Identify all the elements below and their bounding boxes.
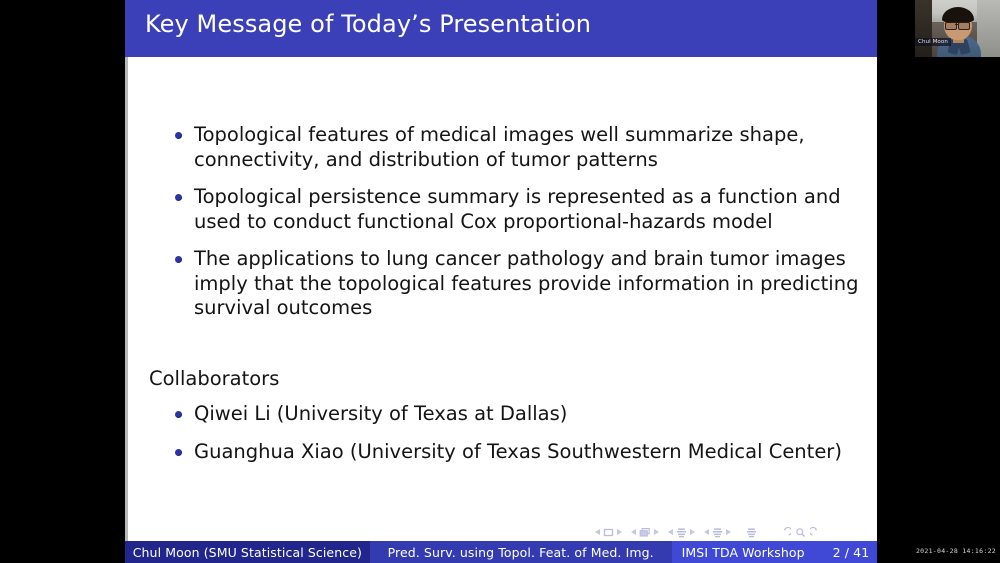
forward-icon[interactable] xyxy=(810,527,821,538)
webcam-video-tile[interactable]: Chul Moon xyxy=(915,0,1000,57)
document-icon[interactable] xyxy=(746,527,757,538)
key-message-bullet-list: Topological features of medical images w… xyxy=(172,123,862,321)
nav-group-frame[interactable] xyxy=(631,527,659,538)
frames-icon[interactable] xyxy=(639,527,651,538)
prev-slide-arrow-icon[interactable] xyxy=(595,529,600,535)
webcam-background-left xyxy=(915,0,932,57)
subsection-icon[interactable] xyxy=(676,527,687,538)
webcam-participant-name: Chul Moon xyxy=(915,38,951,46)
footer-author: Chul Moon (SMU Statistical Science) xyxy=(125,541,370,563)
nav-group-document[interactable] xyxy=(746,527,757,538)
page-title: Key Message of Today’s Presentation xyxy=(145,10,591,38)
section-icon[interactable] xyxy=(712,527,723,538)
footer-right-segment: IMSI TDA Workshop 2 / 41 xyxy=(672,541,877,563)
list-item: Topological features of medical images w… xyxy=(172,123,862,172)
list-item: Topological persistence summary is repre… xyxy=(172,185,862,234)
footer-event: IMSI TDA Workshop xyxy=(682,545,805,560)
next-subsection-arrow-icon[interactable] xyxy=(690,529,695,535)
next-section-arrow-icon[interactable] xyxy=(726,529,731,535)
list-item-text: Guanghua Xiao (University of Texas South… xyxy=(194,440,842,463)
nav-group-history[interactable] xyxy=(780,527,821,538)
prev-frame-arrow-icon[interactable] xyxy=(631,529,636,535)
search-icon[interactable] xyxy=(795,527,806,538)
bullet-dot-icon xyxy=(175,132,182,139)
nav-group-slide[interactable] xyxy=(595,527,622,538)
webcam-person xyxy=(937,10,981,57)
recording-timestamp: 2021-04-28 14:16:22 xyxy=(916,547,996,555)
list-item-text: The applications to lung cancer patholog… xyxy=(194,247,858,319)
bullet-dot-icon xyxy=(175,411,182,418)
bullet-dot-icon xyxy=(175,449,182,456)
prev-subsection-arrow-icon[interactable] xyxy=(668,529,673,535)
footer-short-title: Pred. Surv. using Topol. Feat. of Med. I… xyxy=(370,541,672,563)
collaborators-list: Qiwei Li (University of Texas at Dallas)… xyxy=(172,402,862,477)
list-item-text: Topological persistence summary is repre… xyxy=(194,185,841,233)
list-item: Guanghua Xiao (University of Texas South… xyxy=(172,440,862,465)
screen-recording-frame: Key Message of Today’s Presentation Topo… xyxy=(0,0,1000,563)
slide-body: Topological features of medical images w… xyxy=(125,57,877,541)
bullet-dot-icon xyxy=(175,194,182,201)
next-frame-arrow-icon[interactable] xyxy=(654,529,659,535)
collaborators-heading: Collaborators xyxy=(149,367,279,390)
back-icon[interactable] xyxy=(780,527,791,538)
list-item: Qiwei Li (University of Texas at Dallas) xyxy=(172,402,862,427)
footer-page-number: 2 / 41 xyxy=(833,545,870,560)
webcam-person-glasses-right xyxy=(958,22,970,30)
list-item-text: Qiwei Li (University of Texas at Dallas) xyxy=(194,402,567,425)
beamer-navigation-symbols[interactable] xyxy=(595,523,863,541)
list-item: The applications to lung cancer patholog… xyxy=(172,247,862,321)
presentation-slide: Key Message of Today’s Presentation Topo… xyxy=(125,0,877,563)
list-item-text: Topological features of medical images w… xyxy=(194,123,805,171)
webcam-person-glasses-bridge xyxy=(955,24,958,25)
bullet-dot-icon xyxy=(175,256,182,263)
slide-footer-bar: Chul Moon (SMU Statistical Science) Pred… xyxy=(125,541,877,563)
nav-group-section[interactable] xyxy=(704,527,731,538)
slide-icon[interactable] xyxy=(603,527,614,538)
next-slide-arrow-icon[interactable] xyxy=(617,529,622,535)
nav-group-subsection[interactable] xyxy=(668,527,695,538)
webcam-person-hair xyxy=(942,7,974,23)
prev-section-arrow-icon[interactable] xyxy=(704,529,709,535)
slide-title-bar: Key Message of Today’s Presentation xyxy=(125,0,877,57)
